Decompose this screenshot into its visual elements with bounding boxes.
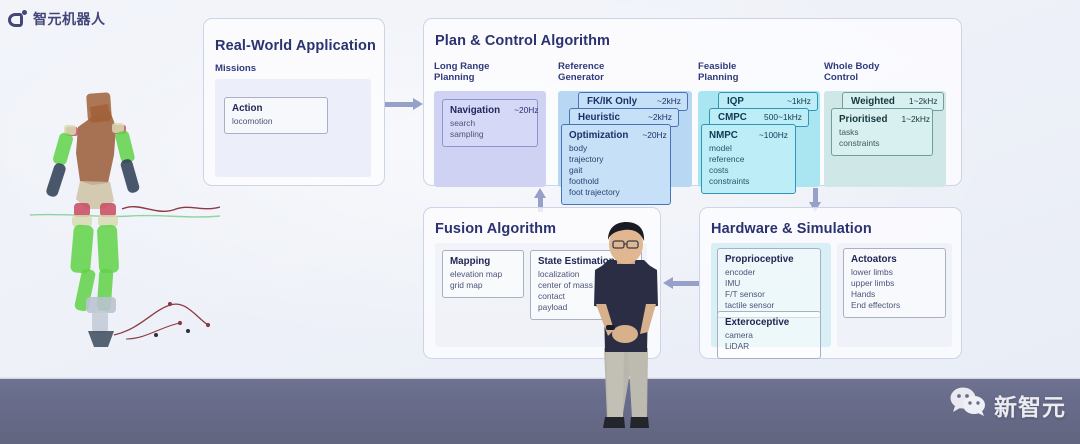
column-long-range-planning[interactable]: Long Range Planning Navigation ~20Hz sea…: [434, 61, 489, 84]
item-lower-limbs: lower limbs: [851, 267, 938, 278]
card-title-prioritised: Prioritised: [839, 114, 887, 125]
card-freq-nmpc: ~100Hz: [745, 130, 788, 140]
item-gait: gait: [569, 165, 663, 176]
card-items-mapping: elevation map grid map: [450, 269, 516, 291]
card-items-navigation: search sampling: [450, 118, 530, 140]
card-nmpc[interactable]: NMPC ~100Hz model reference costs constr…: [701, 124, 796, 194]
item-foothold: foothold: [569, 176, 663, 187]
robot-brand-icon: [8, 10, 27, 29]
card-freq-prioritised: 1~2kHz: [887, 114, 930, 124]
card-freq-cmpc: 500~1kHz: [750, 112, 802, 122]
column-feasible-planning[interactable]: Feasible Planning IQP ~1kHz CMPC 500~1kH…: [698, 61, 739, 84]
column-subtitle-whole-body-control: Whole Body Control: [824, 61, 879, 84]
watermark: 新智元: [949, 387, 1066, 422]
item-imu: IMU: [725, 278, 813, 289]
brand-logo: 智元机器人: [8, 9, 106, 29]
card-action[interactable]: Action locomotion: [224, 97, 328, 134]
arrow-realworld-to-plan: [385, 98, 423, 111]
panel-plan-control-algorithm[interactable]: Plan & Control Algorithm Long Range Plan…: [423, 18, 962, 186]
card-optimization[interactable]: Optimization ~20Hz body trajectory gait …: [561, 124, 671, 205]
item-costs: costs: [709, 165, 788, 176]
card-freq-iqp: ~1kHz: [773, 96, 811, 106]
column-subtitle-reference-generator: Reference Generator: [558, 61, 604, 84]
panel-hardware-simulation[interactable]: Hardware & Simulation Proprioceptive enc…: [699, 207, 962, 359]
card-items-prioritised: tasks constraints: [839, 127, 925, 149]
card-title-mapping: Mapping: [450, 256, 490, 267]
card-freq-fk-ik-only: ~2kHz: [643, 96, 681, 106]
brand-name: 智元机器人: [33, 9, 106, 29]
humanoid-robot-kinematics-illustration: [30, 85, 220, 355]
card-items-action: locomotion: [232, 116, 320, 127]
item-locomotion: locomotion: [232, 116, 320, 127]
card-freq-optimization: ~20Hz: [628, 130, 666, 140]
card-title-weighted: Weighted: [851, 96, 895, 107]
item-elevation-map: elevation map: [450, 269, 516, 280]
card-navigation[interactable]: Navigation ~20Hz search sampling: [442, 99, 538, 147]
card-title-heuristic: Heuristic: [578, 112, 620, 123]
card-freq-weighted: 1~2kHz: [895, 96, 938, 106]
column-subtitle-feasible-planning: Feasible Planning: [698, 61, 739, 84]
item-foot-trajectory: foot trajectory: [569, 187, 663, 198]
item-ft-sensor: F/T sensor: [725, 289, 813, 300]
presenter-person: [578, 222, 674, 444]
card-title-navigation: Navigation: [450, 105, 500, 116]
item-tasks: tasks: [839, 127, 925, 138]
panel-real-world-application[interactable]: Real-World Application Missions Action l…: [203, 18, 385, 186]
card-items-nmpc: model reference costs constraints: [709, 143, 788, 187]
card-items-exteroceptive: camera LiDAR: [725, 330, 813, 352]
card-title-action: Action: [232, 103, 262, 114]
wechat-icon: [949, 387, 987, 422]
card-items-optimization: body trajectory gait foothold foot traje…: [569, 143, 663, 198]
card-actuators[interactable]: Actoators lower limbs upper limbs Hands …: [843, 248, 946, 318]
card-title-actuators: Actoators: [851, 254, 897, 265]
card-mapping[interactable]: Mapping elevation map grid map: [442, 250, 524, 298]
card-prioritised[interactable]: Prioritised 1~2kHz tasks constraints: [831, 108, 933, 156]
card-title-cmpc: CMPC: [718, 112, 747, 123]
column-whole-body-control[interactable]: Whole Body Control Weighted 1~2kHz Prior…: [824, 61, 879, 84]
card-title-proprioceptive: Proprioceptive: [725, 254, 794, 265]
stage-floor: [0, 378, 1080, 444]
panel-title-plan-control: Plan & Control Algorithm: [435, 33, 610, 49]
card-freq-heuristic: ~2kHz: [634, 112, 672, 122]
panel-title-real-world: Real-World Application: [215, 38, 376, 54]
item-upper-limbs: upper limbs: [851, 278, 938, 289]
column-subtitle-long-range-planning: Long Range Planning: [434, 61, 489, 84]
item-camera: camera: [725, 330, 813, 341]
card-freq-navigation: ~20Hz: [500, 105, 538, 115]
card-items-proprioceptive: encoder IMU F/T sensor tactile sensor: [725, 267, 813, 311]
item-trajectory: trajectory: [569, 154, 663, 165]
card-title-fk-ik-only: FK/IK Only: [587, 96, 637, 107]
panel-title-hardware: Hardware & Simulation: [711, 221, 872, 237]
stage-floor-edge: [0, 376, 1080, 379]
panel-title-fusion: Fusion Algorithm: [435, 221, 556, 237]
card-title-exteroceptive: Exteroceptive: [725, 317, 789, 328]
column-reference-generator[interactable]: Reference Generator FK/IK Only ~2kHz Heu…: [558, 61, 604, 84]
card-title-iqp: IQP: [727, 96, 744, 107]
item-lidar: LiDAR: [725, 341, 813, 352]
card-proprioceptive[interactable]: Proprioceptive encoder IMU F/T sensor ta…: [717, 248, 821, 318]
item-grid-map: grid map: [450, 280, 516, 291]
item-tactile-sensor: tactile sensor: [725, 300, 813, 311]
card-exteroceptive[interactable]: Exteroceptive camera LiDAR: [717, 311, 821, 359]
item-search: search: [450, 118, 530, 129]
card-title-optimization: Optimization: [569, 130, 628, 141]
card-title-nmpc: NMPC: [709, 130, 738, 141]
item-constraints: constraints: [709, 176, 788, 187]
item-body: body: [569, 143, 663, 154]
card-items-actuators: lower limbs upper limbs Hands End effect…: [851, 267, 938, 311]
item-constraints-wbc: constraints: [839, 138, 925, 149]
item-end-effectors: End effectors: [851, 300, 938, 311]
watermark-text: 新智元: [994, 388, 1066, 422]
panel-subtitle-missions: Missions: [215, 63, 256, 74]
item-encoder: encoder: [725, 267, 813, 278]
item-model: model: [709, 143, 788, 154]
item-sampling: sampling: [450, 129, 530, 140]
item-reference: reference: [709, 154, 788, 165]
item-hands: Hands: [851, 289, 938, 300]
